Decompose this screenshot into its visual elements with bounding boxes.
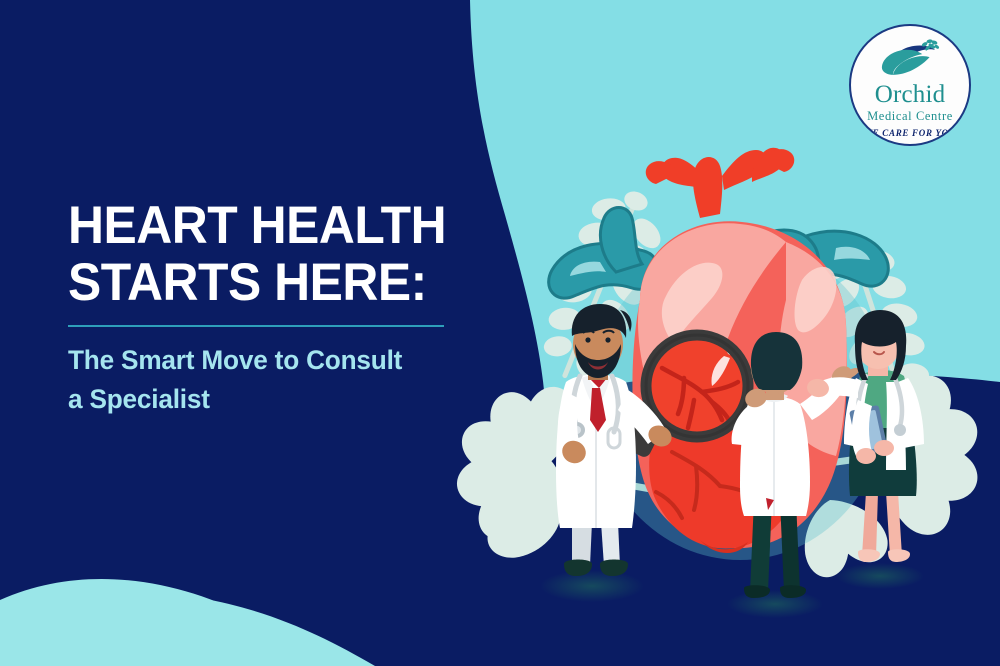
headline-block: HEART HEALTH STARTS HERE: The Smart Move… — [68, 198, 488, 418]
logo-tagline: WE CARE FOR YOU — [864, 128, 956, 138]
hand-with-flower-icon — [873, 37, 947, 81]
heart-aorta — [646, 148, 795, 218]
page-title: HEART HEALTH STARTS HERE: — [68, 198, 463, 311]
headline-line-1: HEART HEALTH — [68, 196, 446, 255]
logo-name: Orchid — [875, 82, 946, 107]
subtitle-line-2: a Specialist — [68, 380, 475, 418]
title-divider — [68, 325, 444, 327]
logo-subtitle: Medical Centre — [867, 110, 953, 123]
health-banner: HEART HEALTH STARTS HERE: The Smart Move… — [0, 0, 1000, 666]
subtitle: The Smart Move to Consult a Specialist — [68, 341, 475, 418]
headline-line-2: STARTS HERE: — [68, 255, 463, 312]
subtitle-line-1: The Smart Move to Consult — [68, 345, 402, 375]
brand-logo[interactable]: Orchid Medical Centre WE CARE FOR YOU — [849, 24, 971, 146]
